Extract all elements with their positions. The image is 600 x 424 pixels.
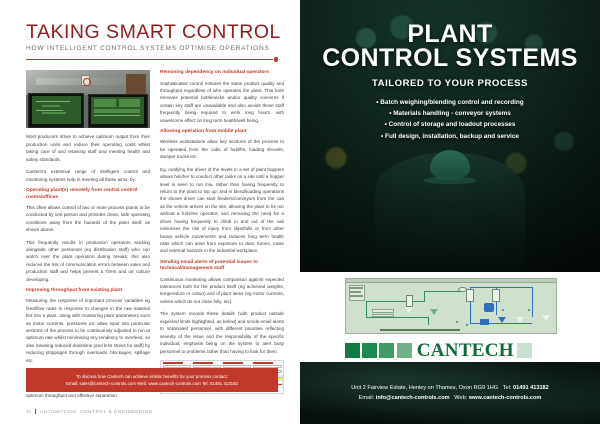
report-filter-label xyxy=(253,362,273,364)
header-rule-dot-icon xyxy=(274,57,279,62)
section-body-throughput: Measuring the response of important proc… xyxy=(26,297,150,364)
section-body-remote-operation: This often allows control of two or more… xyxy=(26,204,150,234)
photo-monitor-right xyxy=(88,94,148,129)
footer-section-label: AUTOMATION, CONTROL & ENGINEERING xyxy=(40,409,153,414)
scada-conveyor xyxy=(428,317,429,325)
section-heading-throughput: Improving throughput from existing plant xyxy=(26,288,150,295)
list-item: • Full design, installation, backup and … xyxy=(300,131,600,142)
advert-footer-line1: Unit 2 Fairview Estate, Henley on Thames… xyxy=(300,384,600,394)
advert-white-band: CANTECH xyxy=(300,272,600,362)
advert-title: PLANT CONTROL SYSTEMS xyxy=(300,22,600,71)
mimic-line xyxy=(94,115,139,116)
scada-conveyor xyxy=(366,317,428,318)
advert-footer-line2: Email: info@cantech-controls.com Web: ww… xyxy=(300,394,600,404)
scada-hopper-icon xyxy=(498,317,506,323)
report-filter-label xyxy=(163,362,183,364)
no-entry-sign-icon xyxy=(81,75,90,86)
section-body-email-alerts-2: The system records these details (with p… xyxy=(160,310,284,355)
advert-footer: Unit 2 Fairview Estate, Henley on Thames… xyxy=(300,362,600,424)
scada-status-bar xyxy=(380,329,460,331)
scada-hopper-icon xyxy=(405,307,413,313)
scada-conveyor xyxy=(424,291,425,302)
scada-conveyor xyxy=(424,291,462,292)
section-body-remote-operation-2: This frequently results in production op… xyxy=(26,239,150,284)
scada-mimic-screenshot xyxy=(345,278,557,334)
section-heading-remote-operation: Operating plant(s) remotely from central… xyxy=(26,188,150,201)
advert-address: Unit 2 Fairview Estate, Henley on Thames… xyxy=(351,385,498,391)
photo-monitor-left-screen xyxy=(32,96,81,125)
scada-feeder xyxy=(372,309,394,313)
header-rule-line xyxy=(26,59,273,60)
advert-email-label: Email: xyxy=(359,395,375,401)
report-filter-label xyxy=(193,362,213,364)
article-column-right: Removing dependency on individual operat… xyxy=(160,70,284,404)
intro-paragraph: Most producers strive to achieve optimum… xyxy=(26,133,150,163)
page-number: 46 xyxy=(26,409,36,414)
intro-paragraph-2: Cantech's extensive range of intelligent… xyxy=(26,168,150,183)
scada-valve xyxy=(480,319,489,325)
page-title: TAKING SMART CONTROL xyxy=(26,22,278,42)
scada-pipe xyxy=(470,287,532,288)
mimic-block xyxy=(94,109,139,113)
photo-monitor-right-screen xyxy=(91,97,144,125)
logo-square-3 xyxy=(379,343,394,358)
mimic-block xyxy=(94,99,115,106)
scada-conveyor xyxy=(366,301,424,302)
mimic-block xyxy=(119,99,140,106)
scada-pipe xyxy=(532,287,533,317)
scada-feeder xyxy=(372,314,394,317)
photo-monitor-left xyxy=(28,93,84,129)
advert-tel-value: 01491 413182 xyxy=(513,385,549,391)
page-footer: 46 AUTOMATION, CONTROL & ENGINEERING xyxy=(26,409,153,414)
mimic-block xyxy=(42,112,66,114)
control-room-photo xyxy=(26,70,150,128)
mimic-line xyxy=(36,101,71,102)
list-item: • Materials handling - conveyor systems xyxy=(300,108,600,119)
scada-conveyor xyxy=(366,301,367,317)
scada-mixer xyxy=(484,303,494,312)
scada-label xyxy=(350,295,363,297)
scada-label xyxy=(350,291,361,293)
scada-vessel xyxy=(492,289,500,302)
report-filter-label xyxy=(223,362,243,364)
advert-bullet-list: • Batch weighing/blending control and re… xyxy=(300,97,600,143)
list-item: • Batch weighing/blending control and re… xyxy=(300,97,600,108)
advert-tagline: TAILORED TO YOUR PROCESS xyxy=(300,78,600,89)
logo-square-2 xyxy=(362,343,377,358)
editorial-page: TAKING SMART CONTROL HOW INTELLIGENT CON… xyxy=(0,0,300,424)
scada-indicator xyxy=(466,324,468,326)
scada-indicator xyxy=(502,309,504,311)
logo-square-1 xyxy=(345,343,360,358)
logo-wordmark: CANTECH xyxy=(417,340,514,362)
advert-web-label: Web: xyxy=(454,395,467,401)
header-rule xyxy=(26,57,278,62)
article-column-left: Most producers strive to achieve optimum… xyxy=(26,70,150,404)
advert-hero-content: PLANT CONTROL SYSTEMS TAILORED TO YOUR P… xyxy=(300,0,600,142)
article-columns: Most producers strive to achieve optimum… xyxy=(26,70,278,404)
contact-bar-line1: To discuss how Cantech can achieve simil… xyxy=(30,373,274,380)
advert-title-line2: CONTROL SYSTEMS xyxy=(300,46,600,70)
section-heading-dependency: Removing dependency on individual operat… xyxy=(160,70,284,77)
section-heading-mobile-plant: Allowing operation from mobile plant xyxy=(160,129,284,136)
scada-vessel xyxy=(466,289,474,302)
logo-square-5 xyxy=(517,343,532,358)
scada-hopper-icon xyxy=(430,309,438,315)
list-item: • Control of storage and loadout process… xyxy=(300,119,600,130)
mimic-line xyxy=(36,110,63,111)
contact-bar-line2: Email: sales@cantech-controls.com Web: w… xyxy=(30,380,274,387)
section-heading-email-alerts: Sending email alerts of potential issues… xyxy=(160,260,284,273)
scada-label xyxy=(350,287,363,289)
masthead: TAKING SMART CONTROL HOW INTELLIGENT CON… xyxy=(26,22,278,62)
scada-vessel xyxy=(406,295,413,307)
article-contact-bar: To discuss how Cantech can achieve simil… xyxy=(26,368,278,392)
page-subtitle: HOW INTELLIGENT CONTROL SYSTEMS OPTIMISE… xyxy=(26,45,278,52)
section-body-mobile-plant-2: Eg, notifying the driver of the levels i… xyxy=(160,166,284,255)
advert-hero: PLANT CONTROL SYSTEMS TAILORED TO YOUR P… xyxy=(300,0,600,272)
scada-indicator xyxy=(528,309,530,311)
logo-square-4 xyxy=(397,343,412,358)
section-body-email-alerts: Continuous monitoring allows comparison … xyxy=(160,276,284,306)
advert-tel-label: Tel: xyxy=(503,385,512,391)
scada-toolbar xyxy=(346,279,556,283)
mimic-block xyxy=(42,105,60,108)
section-body-dependency: Sophisticated control ensures the same p… xyxy=(160,80,284,125)
scada-indicator xyxy=(456,321,458,323)
scada-hopper-icon xyxy=(516,317,524,323)
advert-email-value[interactable]: info@cantech-controls.com xyxy=(376,395,450,401)
scada-hopper-icon xyxy=(542,315,550,321)
photo-cabinet xyxy=(126,74,146,95)
section-body-mobile-plant: Wireless workstations allow key sections… xyxy=(160,138,284,160)
cantech-logo: CANTECH xyxy=(345,342,534,359)
advert-web-value[interactable]: www.cantech-controls.com xyxy=(469,395,542,401)
advertisement-page: PLANT CONTROL SYSTEMS TAILORED TO YOUR P… xyxy=(300,0,600,424)
